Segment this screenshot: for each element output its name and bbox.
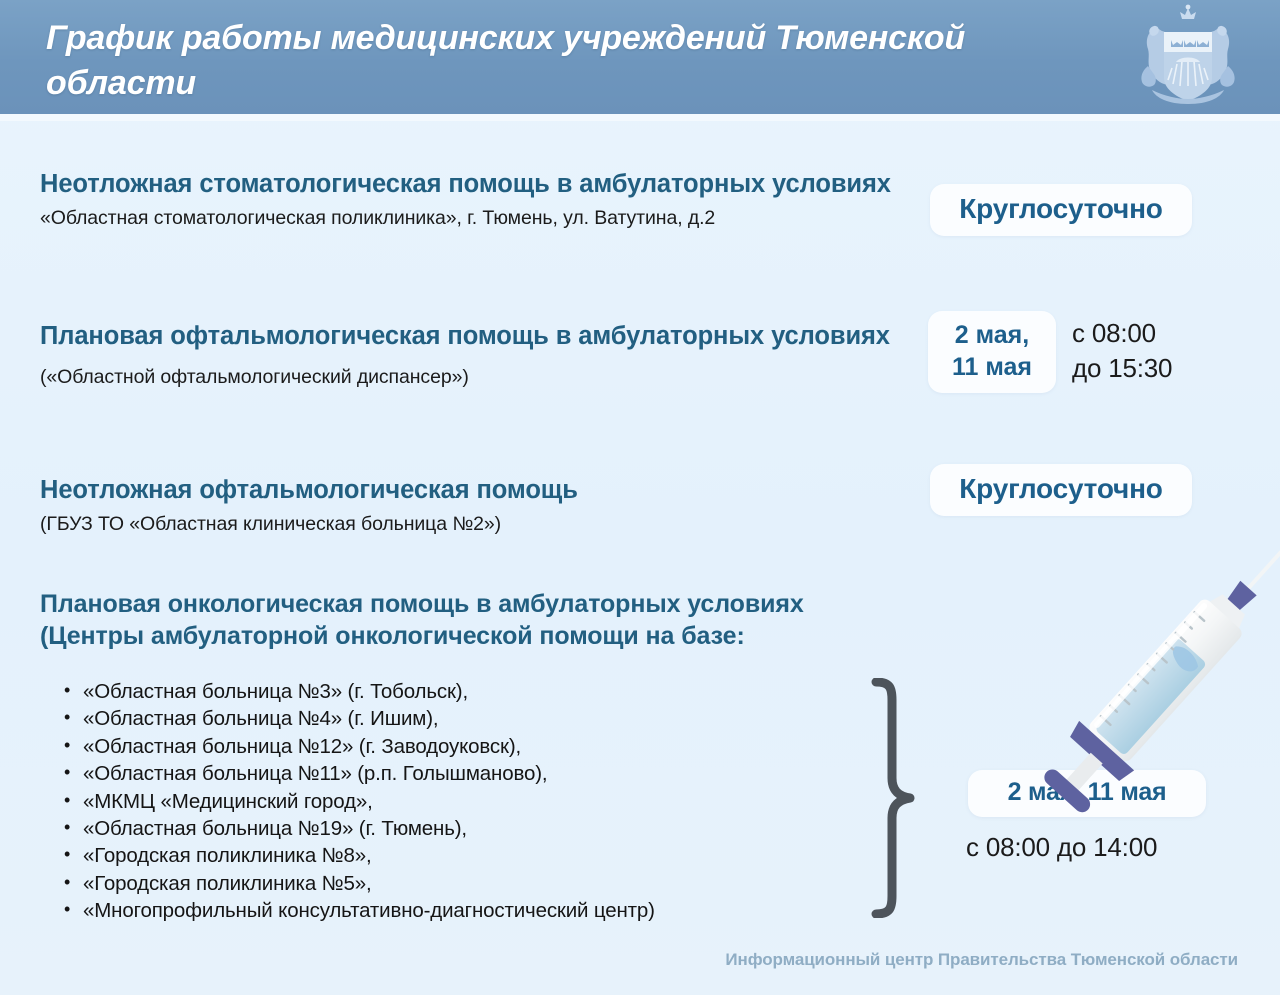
section-ophthalmology-urgent: Неотложная офтальмологическая помощь (ГБ… bbox=[40, 474, 920, 537]
list-item: «Областная больница №4» (г. Ишим), bbox=[62, 705, 862, 732]
curly-brace-icon bbox=[866, 678, 924, 918]
section-ophthalmology-urgent-title: Неотложная офтальмологическая помощь bbox=[40, 474, 920, 507]
page-title: График работы медицинских учреждений Тюм… bbox=[46, 16, 1066, 106]
ophthalmology-working-hours: с 08:00 до 15:30 bbox=[1072, 316, 1172, 386]
header-divider bbox=[0, 114, 1280, 121]
list-item: «Областная больница №11» (р.п. Голышмано… bbox=[62, 760, 862, 787]
section-dental-title: Неотложная стоматологическая помощь в ам… bbox=[40, 168, 920, 201]
ophthalmology-hours-to: до 15:30 bbox=[1072, 351, 1172, 386]
section-ophthalmology-planned: Плановая офтальмологическая помощь в амб… bbox=[40, 320, 920, 390]
ophthalmology-hours-from: с 08:00 bbox=[1072, 316, 1172, 351]
badge-ophthalmology-dates: 2 мая, 11 мая bbox=[928, 311, 1056, 393]
poster-root: График работы медицинских учреждений Тюм… bbox=[0, 0, 1280, 995]
badge-oncology-dates: 2 мая, 11 мая bbox=[968, 770, 1206, 817]
list-item: «Областная больница №12» (г. Заводоуковс… bbox=[62, 733, 862, 760]
badge-ophthalmology-date-line-2: 11 мая bbox=[928, 351, 1056, 383]
badge-dental-schedule: Круглосуточно bbox=[930, 184, 1192, 236]
section-ophthalmology-planned-subtitle: («Областной офтальмологический диспансер… bbox=[40, 365, 920, 390]
badge-ophthalmology-urgent-schedule: Круглосуточно bbox=[930, 464, 1192, 516]
poster-header: График работы медицинских учреждений Тюм… bbox=[0, 0, 1280, 114]
list-item: «Областная больница №3» (г. Тобольск), bbox=[62, 678, 862, 705]
section-oncology-title-line-1: Плановая онкологическая помощь в амбулат… bbox=[40, 588, 990, 620]
section-ophthalmology-planned-title: Плановая офтальмологическая помощь в амб… bbox=[40, 320, 920, 353]
section-oncology-title-line-2: (Центры амбулаторной онкологической помо… bbox=[40, 620, 990, 652]
section-ophthalmology-urgent-subtitle: (ГБУЗ ТО «Областная клиническая больница… bbox=[40, 512, 920, 537]
list-item: «Многопрофильный консультативно-диагност… bbox=[62, 897, 862, 924]
footer-credit: Информационный центр Правительства Тюмен… bbox=[725, 950, 1238, 970]
badge-ophthalmology-date-line-1: 2 мая, bbox=[928, 319, 1056, 351]
section-dental: Неотложная стоматологическая помощь в ам… bbox=[40, 168, 920, 231]
section-oncology: Плановая онкологическая помощь в амбулат… bbox=[40, 588, 990, 652]
list-item: «Областная больница №19» (г. Тюмень), bbox=[62, 815, 862, 842]
coat-of-arms-icon bbox=[1134, 4, 1242, 110]
list-item: «Городская поликлиника №8», bbox=[62, 842, 862, 869]
list-item: «Городская поликлиника №5», bbox=[62, 870, 862, 897]
section-dental-subtitle: «Областная стоматологическая поликлиника… bbox=[40, 206, 920, 231]
oncology-working-hours: с 08:00 до 14:00 bbox=[966, 832, 1157, 863]
list-item: «МКМЦ «Медицинский город», bbox=[62, 788, 862, 815]
oncology-center-list: «Областная больница №3» (г. Тобольск), «… bbox=[62, 678, 862, 925]
